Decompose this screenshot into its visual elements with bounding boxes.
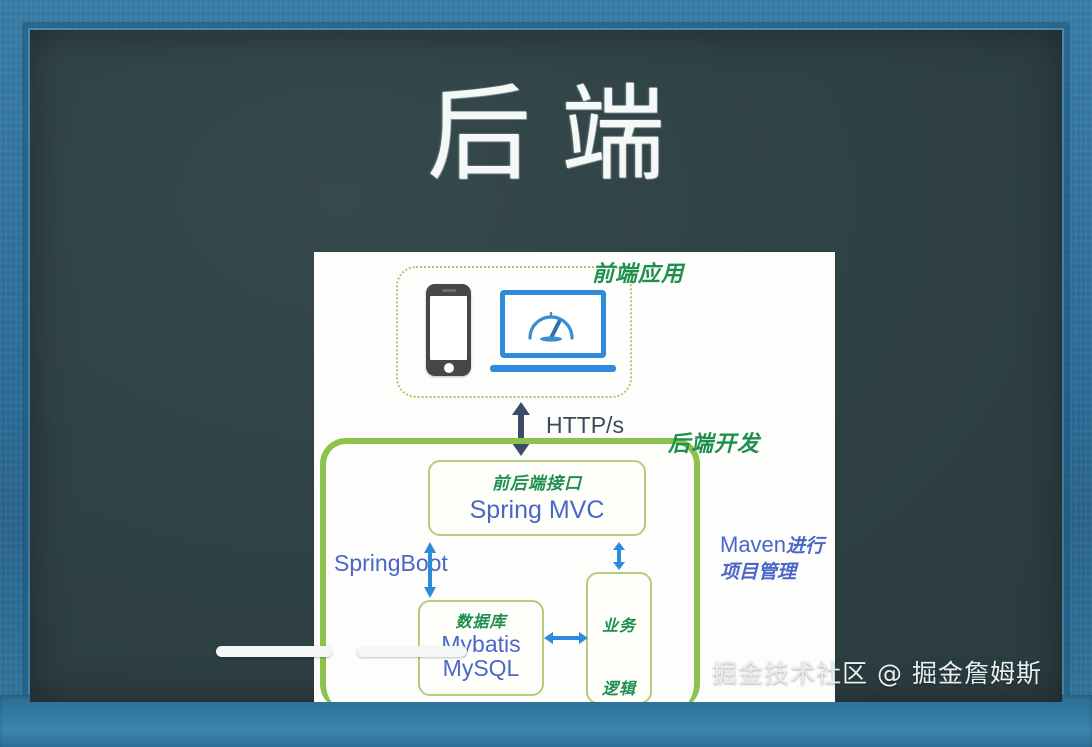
maven-note: Maven进行 项目管理: [720, 530, 824, 585]
spring-mvc-box: 前后端接口 Spring MVC: [428, 460, 646, 536]
gauge-icon: [526, 306, 576, 346]
arrow-mvc-to-business-logic: [611, 542, 627, 570]
laptop-base: [490, 365, 616, 372]
business-logic-line2: 逻辑: [588, 677, 650, 700]
spring-mvc-en-label: Spring MVC: [430, 496, 644, 525]
spring-mvc-cn-label: 前后端接口: [430, 469, 644, 494]
business-logic-line1: 业务: [588, 614, 650, 637]
arrow-database-to-business-logic: [544, 630, 588, 646]
architecture-diagram-card: 前端应用 HTTP/s: [314, 252, 835, 702]
frontend-label: 前端应用: [592, 256, 684, 288]
mysql-label: MySQL: [420, 656, 542, 680]
maven-cn2-label: 项目管理: [720, 560, 824, 586]
page-indicator-1[interactable]: [216, 646, 332, 657]
arrow-mvc-to-database: [422, 542, 438, 598]
business-logic-box: 业务 逻辑: [586, 572, 652, 702]
phone-screen: [430, 296, 467, 360]
phone-home-button: [444, 363, 454, 373]
http-label: HTTP/s: [546, 412, 624, 439]
watermark: 掘金技术社区 @ 掘金詹姆斯: [712, 654, 1042, 690]
page-indicator-2[interactable]: [357, 646, 467, 657]
chalkboard: 后端 前端应用: [30, 30, 1062, 702]
backend-label: 后端开发: [668, 426, 760, 458]
phone-icon: [426, 284, 471, 376]
maven-cn-label: 进行: [786, 535, 824, 557]
page-indicators[interactable]: [216, 646, 476, 658]
laptop-icon: [490, 290, 616, 376]
maven-en-label: Maven: [720, 532, 786, 557]
frame-ledge: [0, 695, 1092, 747]
database-cn-label: 数据库: [420, 608, 542, 632]
phone-speaker: [442, 289, 456, 292]
page-title: 后端: [30, 82, 1062, 186]
